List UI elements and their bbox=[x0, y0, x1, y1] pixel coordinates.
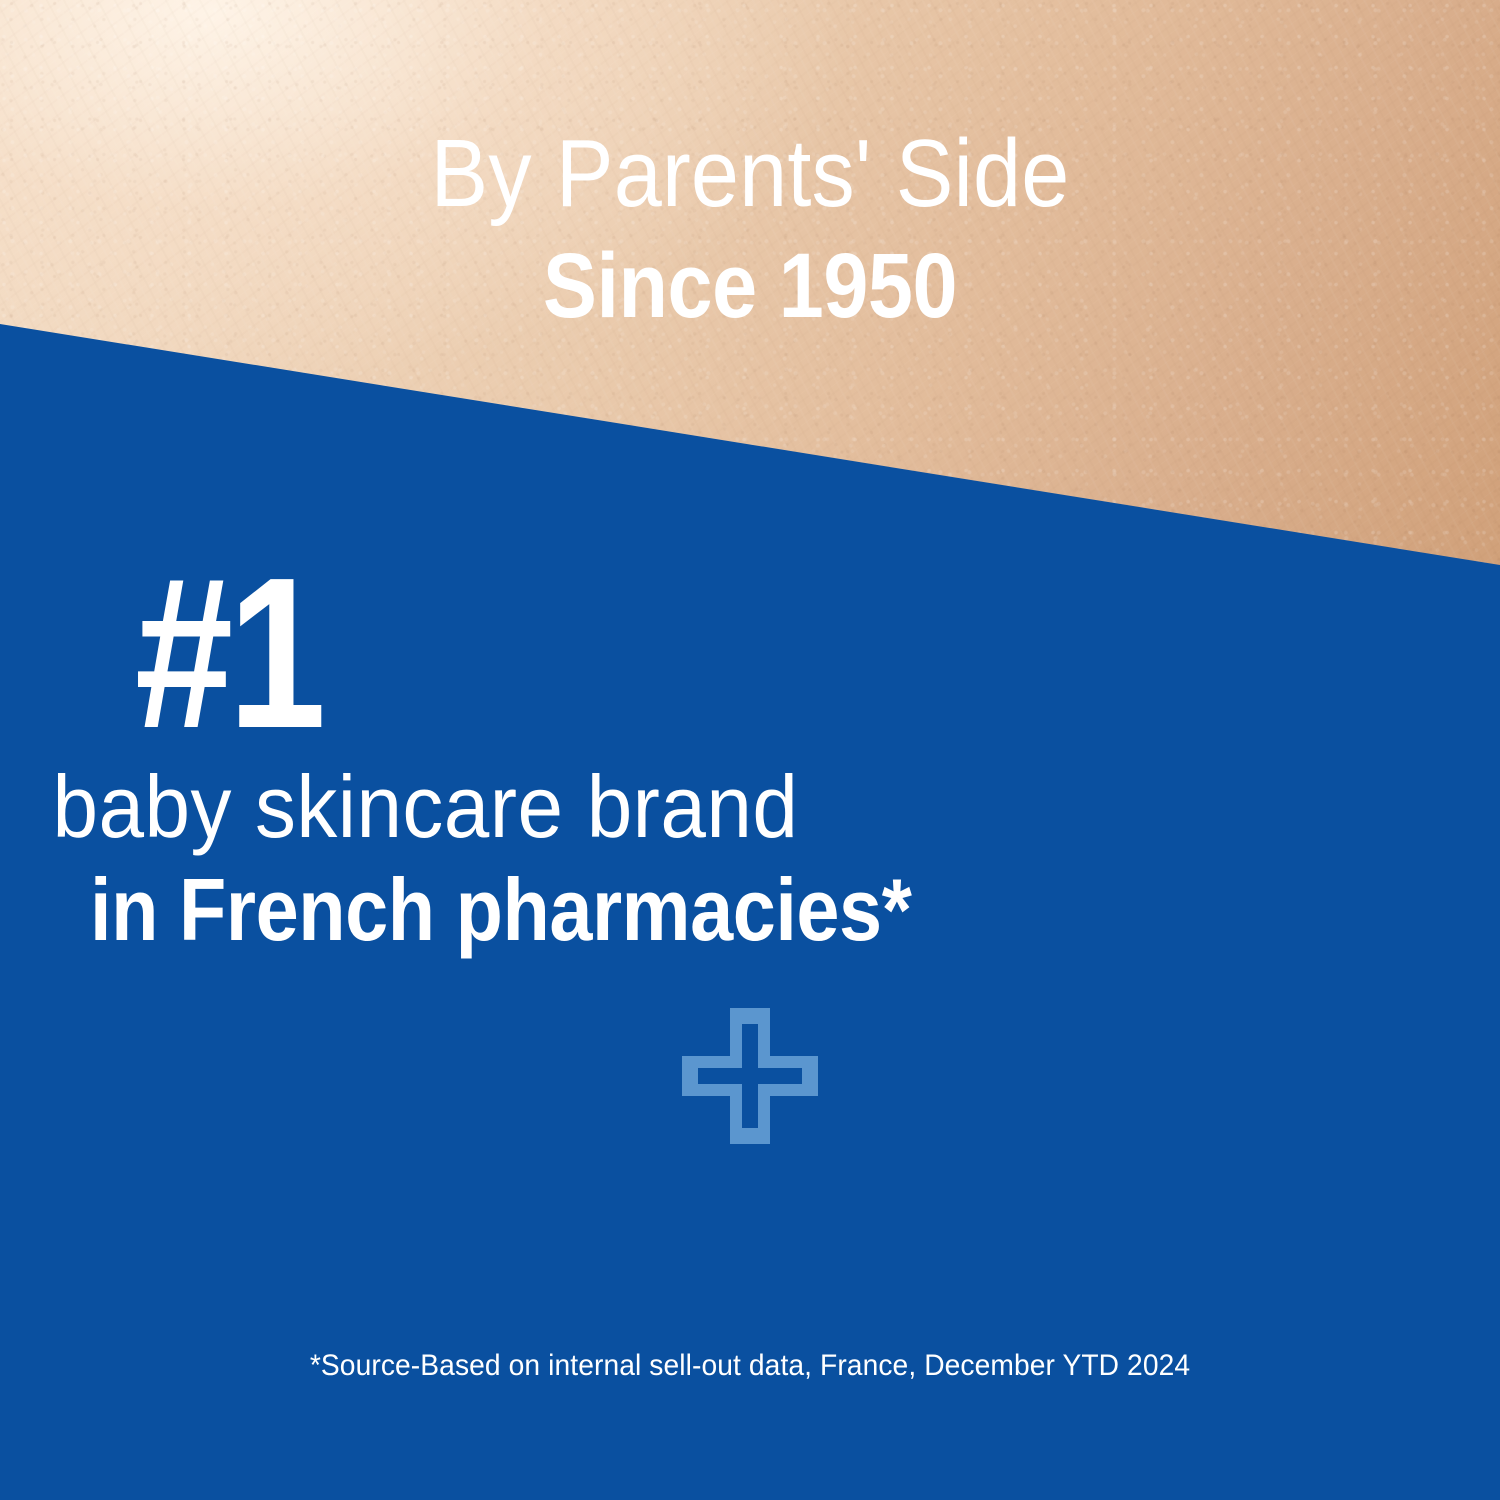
cross-inner-cutout bbox=[698, 1024, 802, 1128]
claim-line-2: in French pharmacies* bbox=[90, 866, 1410, 954]
claim-line-1: baby skincare brand bbox=[53, 763, 1448, 851]
source-disclaimer: *Source-Based on internal sell-out data,… bbox=[45, 1348, 1455, 1384]
rank-number: #1 bbox=[135, 545, 1365, 760]
tagline-line-2: Since 1950 bbox=[90, 240, 1410, 332]
pharmacy-cross-icon bbox=[660, 1008, 840, 1158]
tagline-line-1: By Parents' Side bbox=[75, 126, 1425, 222]
marketing-poster: By Parents' Side Since 1950 #1 baby skin… bbox=[0, 0, 1500, 1500]
